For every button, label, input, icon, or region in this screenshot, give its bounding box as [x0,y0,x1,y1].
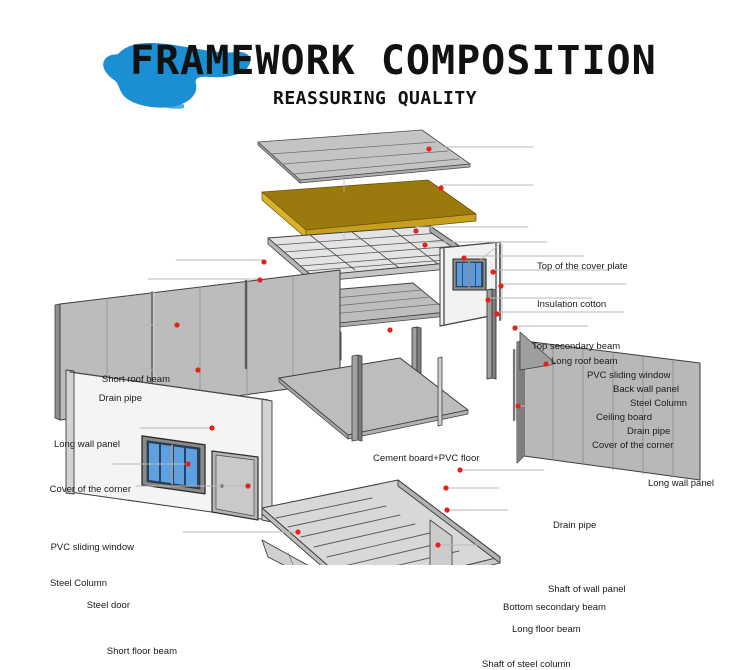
callout-label-pvc-sliding-window: PVC sliding window [0,542,134,553]
anchor-dot [413,228,418,233]
callout-label-short-floor-beam: Short floor beam [0,646,177,657]
callout-label-long-floor-beam: Long floor beam [512,624,581,635]
callout-label-long-roof-beam: Long roof beam [551,356,618,367]
anchor-dot [512,325,517,330]
anchor-dot [195,367,200,372]
callout-label-steel-column: Steel Column [630,398,687,409]
anchor-dot [209,425,214,430]
anchor-dot [422,242,427,247]
callout-label-drain-pipe: Drain pipe [627,426,670,437]
callout-label-cement-board-plus-pvc-floor: Cement board+PVC floor [373,453,479,464]
callout-label-steel-door: Steel door [0,600,130,611]
callout-label-pvc-sliding-window: PVC sliding window [587,370,670,381]
anchor-dot [443,485,448,490]
anchor-dot [245,483,250,488]
anchor-dot [490,269,495,274]
anchor-dot [387,327,392,332]
leader-elbow [441,185,513,188]
window-back-wall [453,259,486,290]
anchor-dot [295,529,300,534]
anchor-dot [444,507,449,512]
anchor-dot [515,403,520,408]
diagram-canvas: Top of the cover plateInsulation cottonT… [0,120,750,565]
page-subtitle: REASSURING QUALITY [273,88,693,109]
callout-label-top-secondary-beam: Top secondary beam [532,341,620,352]
anchor-dot [543,361,548,366]
anchor-dot [485,297,490,302]
anchor-dot [438,185,443,190]
anchor-dot [261,259,266,264]
callout-label-top-of-the-cover-plate: Top of the cover plate [537,261,628,272]
anchor-dot [257,277,262,282]
callout-label-ceiling-board: Ceiling board [596,412,652,423]
callout-label-short-roof-beam: Short roof beam [0,374,170,385]
anchor-dot [494,311,499,316]
callout-label-drain-pipe: Drain pipe [0,393,142,404]
callout-label-bottom-secondary-beam: Bottom secondary beam [503,602,606,613]
callout-label-shaft-of-wall-panel: Shaft of wall panel [548,584,626,595]
callout-label-long-wall-panel: Long wall panel [648,478,714,489]
callout-label-back-wall-panel: Back wall panel [613,384,679,395]
callout-label-steel-column: Steel Column [0,578,107,589]
callout-label-cover-of-the-corner: Cover of the corner [592,440,673,451]
anchor-dot [457,467,462,472]
part-insulation-cotton [262,180,476,238]
framework-composition-infographic: FRAMEWORK COMPOSITION REASSURING QUALITY [0,0,750,565]
callout-label-insulation-cotton: Insulation cotton [537,299,606,310]
anchor-dot [174,322,179,327]
callout-label-cover-of-the-corner: Cover of the corner [0,484,131,495]
callout-label-long-wall-panel: Long wall panel [0,439,120,450]
anchor-dot [185,461,190,466]
part-top-cover-plate [258,130,470,183]
anchor-dot [435,542,440,547]
header: FRAMEWORK COMPOSITION REASSURING QUALITY [0,0,750,125]
anchor-dot [498,283,503,288]
exploded-assembly-drawing [0,120,750,565]
anchor-dot [461,255,466,260]
callout-label-drain-pipe: Drain pipe [553,520,596,531]
part-floor-frame [262,480,500,565]
page-title: FRAMEWORK COMPOSITION [130,40,690,82]
callout-label-shaft-of-steel-column: Shaft of steel column [482,659,571,670]
window-front-wall [142,436,205,494]
part-steel-door [212,451,258,520]
anchor-dot [426,146,431,151]
